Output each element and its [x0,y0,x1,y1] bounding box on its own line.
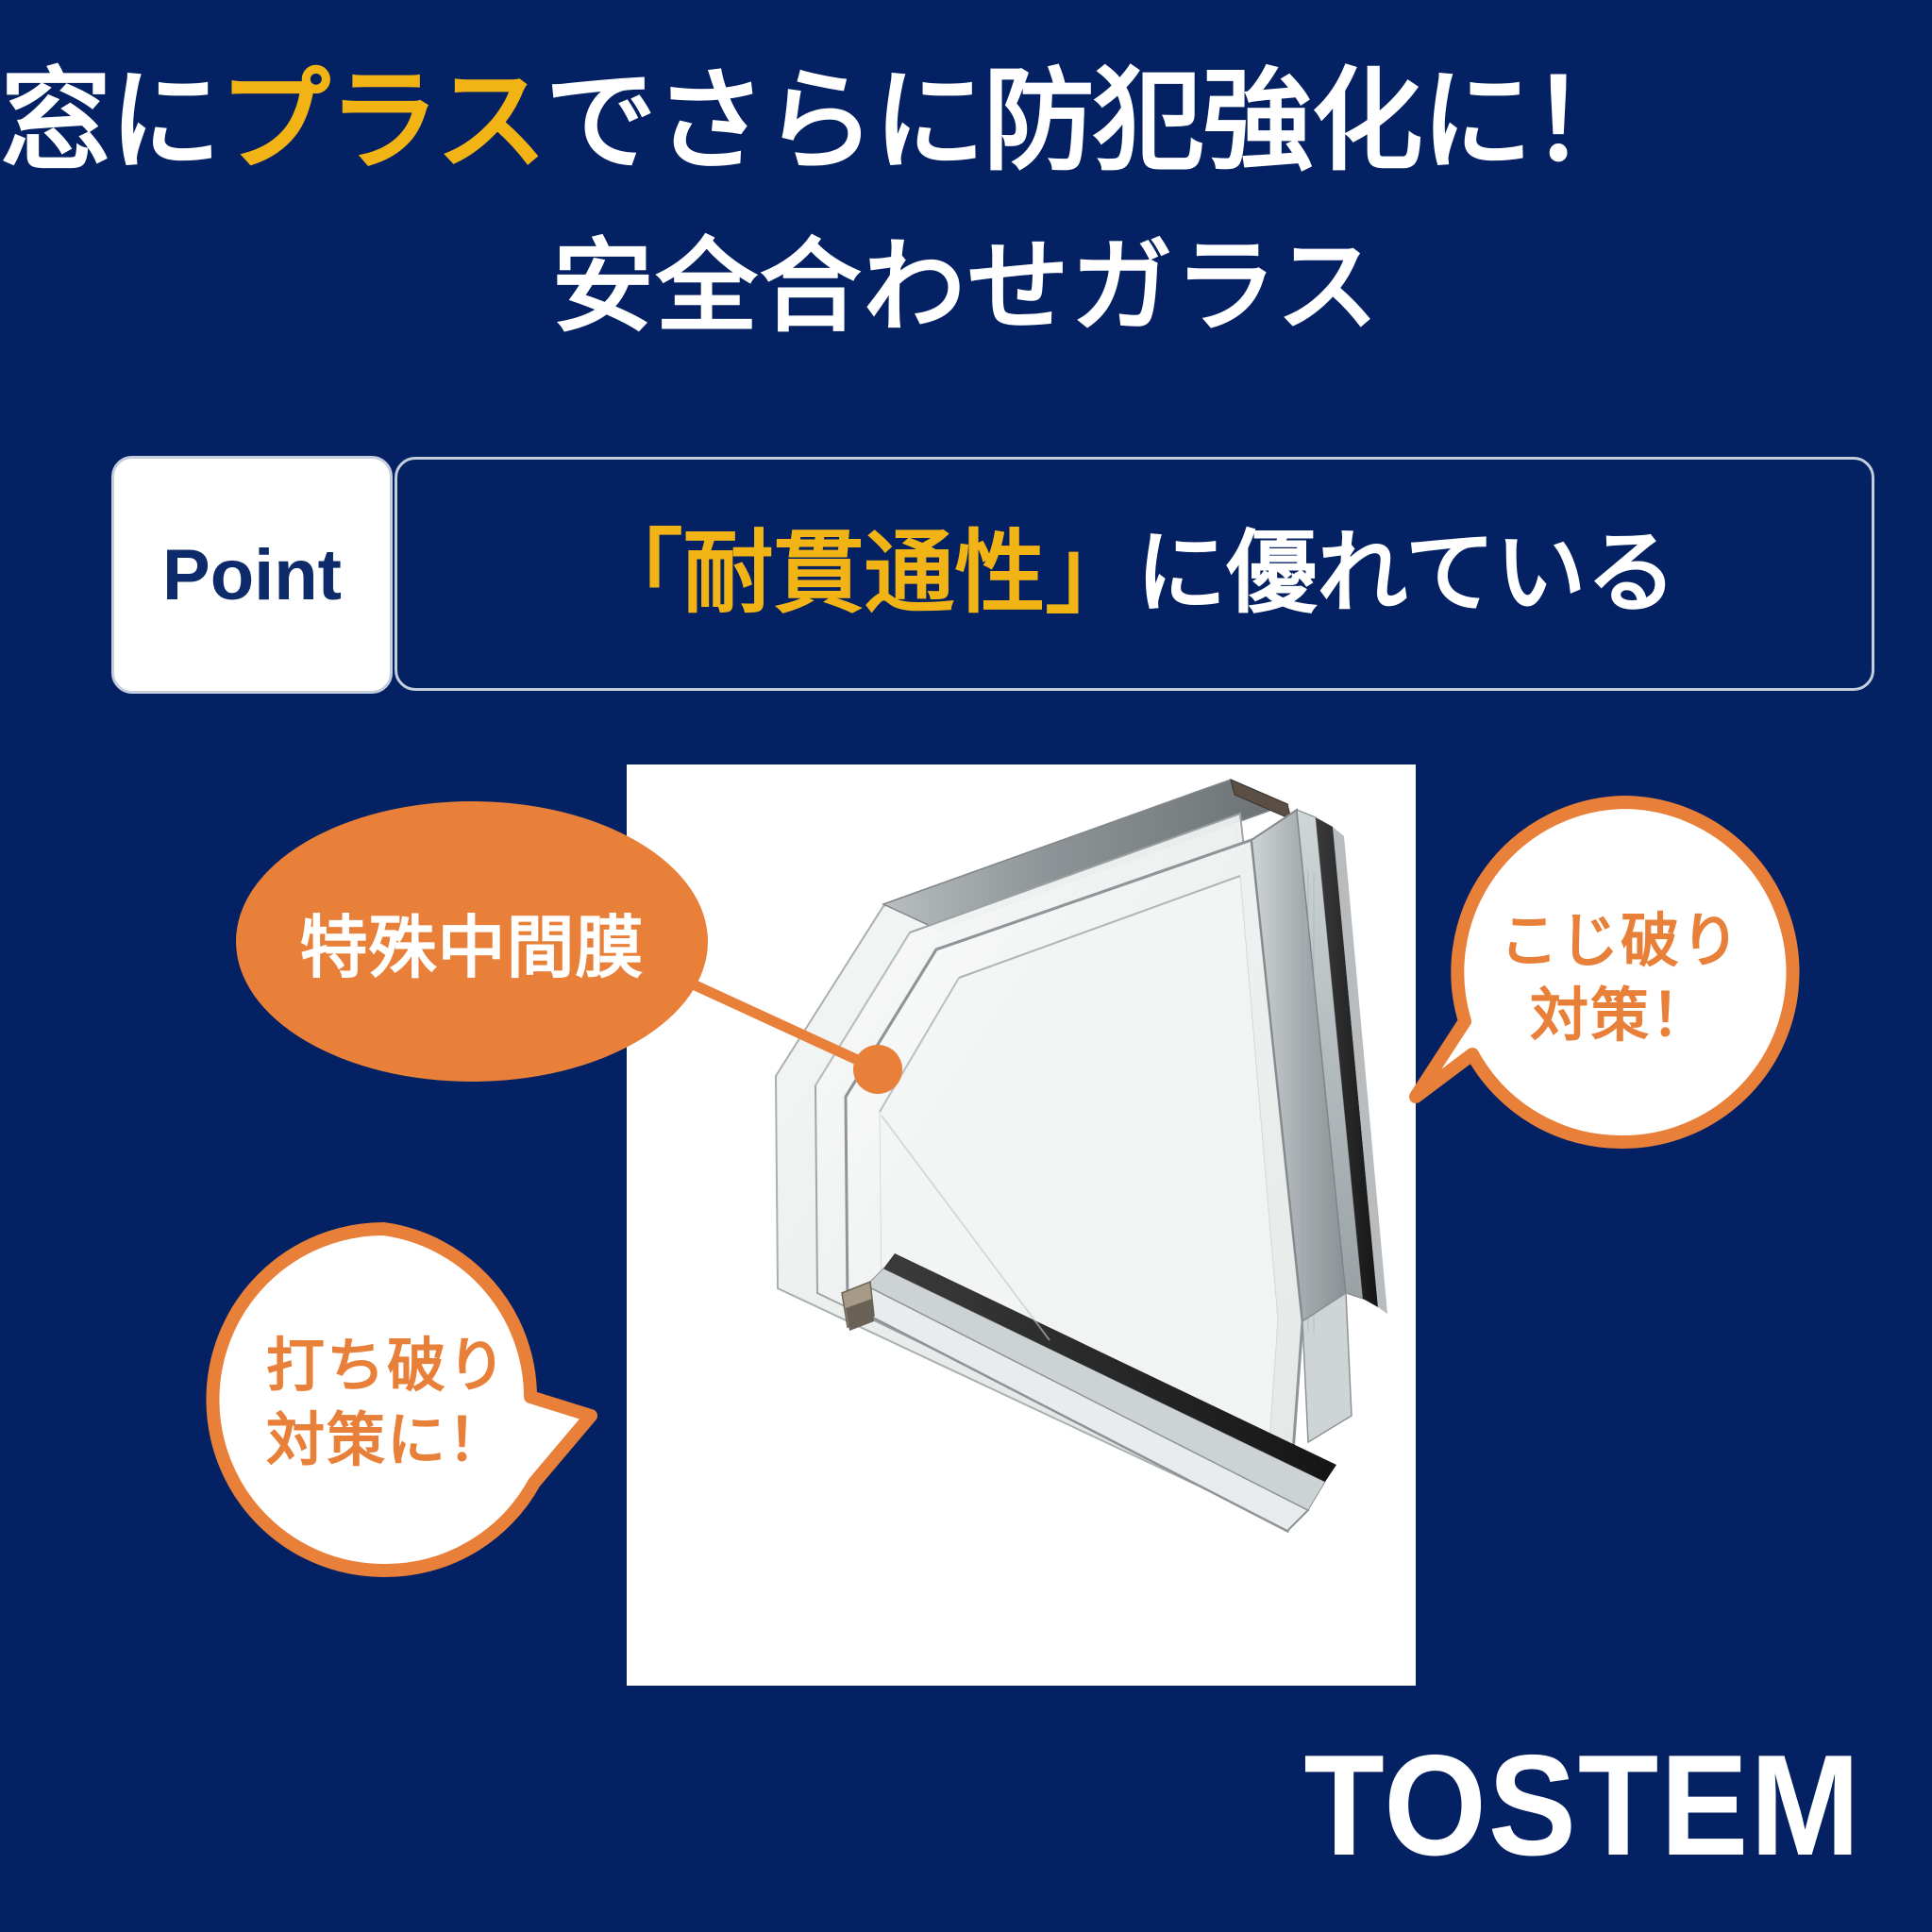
headline-line1-suffix: でさらに防犯強化に！ [546,59,1640,184]
brand-logo-tostem: TOSTEM [1304,1734,1862,1877]
headline-line-2: 安全合わせガラス [0,236,1932,338]
point-row: Point 「耐貫通性」に優れている [111,456,1874,694]
speech-bubble-smash-attack-line2: 対策に！ [189,1403,585,1478]
point-body-box: 「耐貫通性」に優れている [395,457,1874,691]
headline-line1-accent: プラス [219,59,546,184]
speech-bubble-smash-attack: 打ち破り 対策に！ [204,1219,600,1589]
laminated-glass-illustration [627,764,1416,1686]
speech-bubble-pry-attack-text: こじ破り 対策！ [1421,904,1820,1054]
product-image-panel [627,764,1416,1686]
callout-special-interlayer-label: 特殊中間膜 [299,892,644,991]
speech-bubble-smash-attack-line1: 打ち破り [189,1329,585,1403]
poster-canvas: 窓にプラスでさらに防犯強化に！ 安全合わせガラス Point 「耐貫通性」に優れ… [0,0,1932,1932]
point-body-text: 「耐貫通性」に優れている [592,529,1676,619]
speech-bubble-pry-attack-line2: 対策！ [1421,979,1820,1053]
point-badge-label: Point [162,534,342,616]
headline-line-1: 窓にプラスでさらに防犯強化に！ [0,66,1472,177]
headline-line1-prefix: 窓に [0,59,219,184]
point-body-accent: 「耐貫通性」 [592,523,1135,624]
speech-bubble-pry-attack: こじ破り 対策！ [1404,793,1803,1161]
point-badge: Point [111,456,393,694]
callout-special-interlayer: 特殊中間膜 [236,801,708,1082]
speech-bubble-smash-attack-text: 打ち破り 対策に！ [189,1329,585,1479]
point-body-plain: に優れている [1135,523,1676,624]
speech-bubble-pry-attack-line1: こじ破り [1421,904,1820,979]
